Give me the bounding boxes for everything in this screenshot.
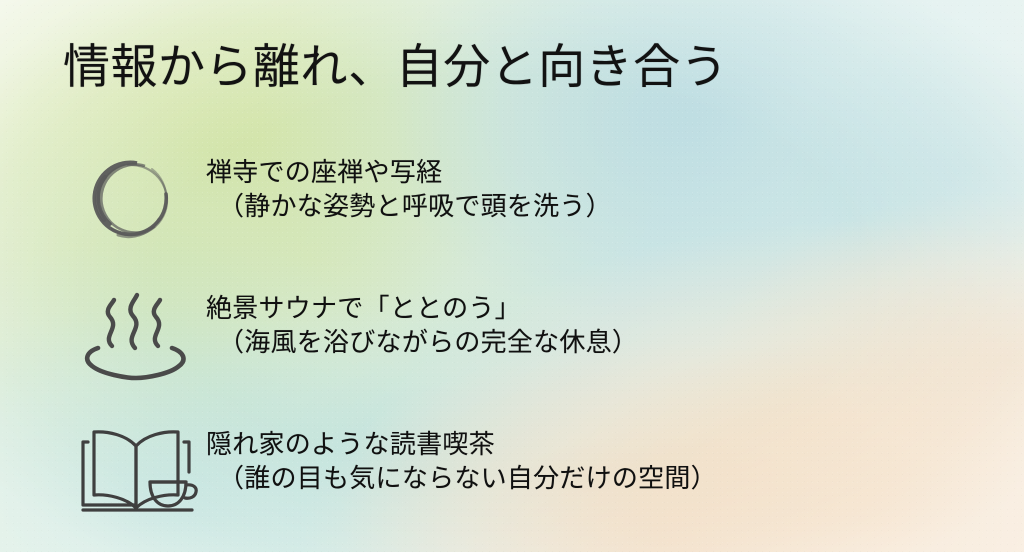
- list-item-subtitle: （海風を浴びながらの完全な休息）: [206, 326, 638, 360]
- list-item: 隠れ家のような読書喫茶 （誰の目も気にならない自分だけの空間）: [0, 422, 1024, 552]
- onsen-steam-icon: [82, 286, 202, 386]
- item-list: 禅寺での座禅や写経 （静かな姿勢と呼吸で頭を洗う）: [0, 150, 1024, 552]
- slide-canvas: 情報から離れ、自分と向き合う: [0, 0, 1024, 552]
- list-item-text: 絶景サウナで「ととのう」 （海風を浴びながらの完全な休息）: [206, 286, 638, 361]
- list-item-subtitle: （誰の目も気にならない自分だけの空間）: [206, 462, 717, 496]
- list-item-text: 禅寺での座禅や写経 （静かな姿勢と呼吸で頭を洗う）: [206, 150, 612, 225]
- slide-title: 情報から離れ、自分と向き合う: [63, 41, 728, 96]
- list-item: 禅寺での座禅や写経 （静かな姿勢と呼吸で頭を洗う）: [0, 150, 1024, 286]
- list-item: 絶景サウナで「ととのう」 （海風を浴びながらの完全な休息）: [0, 286, 1024, 422]
- open-book-teacup-icon: [82, 422, 202, 522]
- list-item-subtitle: （静かな姿勢と呼吸で頭を洗う）: [206, 190, 612, 224]
- list-item-text: 隠れ家のような読書喫茶 （誰の目も気にならない自分だけの空間）: [206, 422, 717, 497]
- list-item-title: 絶景サウナで「ととのう」: [206, 292, 638, 326]
- list-item-title: 隠れ家のような読書喫茶: [206, 428, 717, 462]
- list-item-title: 禅寺での座禅や写経: [206, 156, 612, 190]
- enso-circle-icon: [82, 150, 202, 250]
- slide-content: 情報から離れ、自分と向き合う: [0, 0, 1024, 552]
